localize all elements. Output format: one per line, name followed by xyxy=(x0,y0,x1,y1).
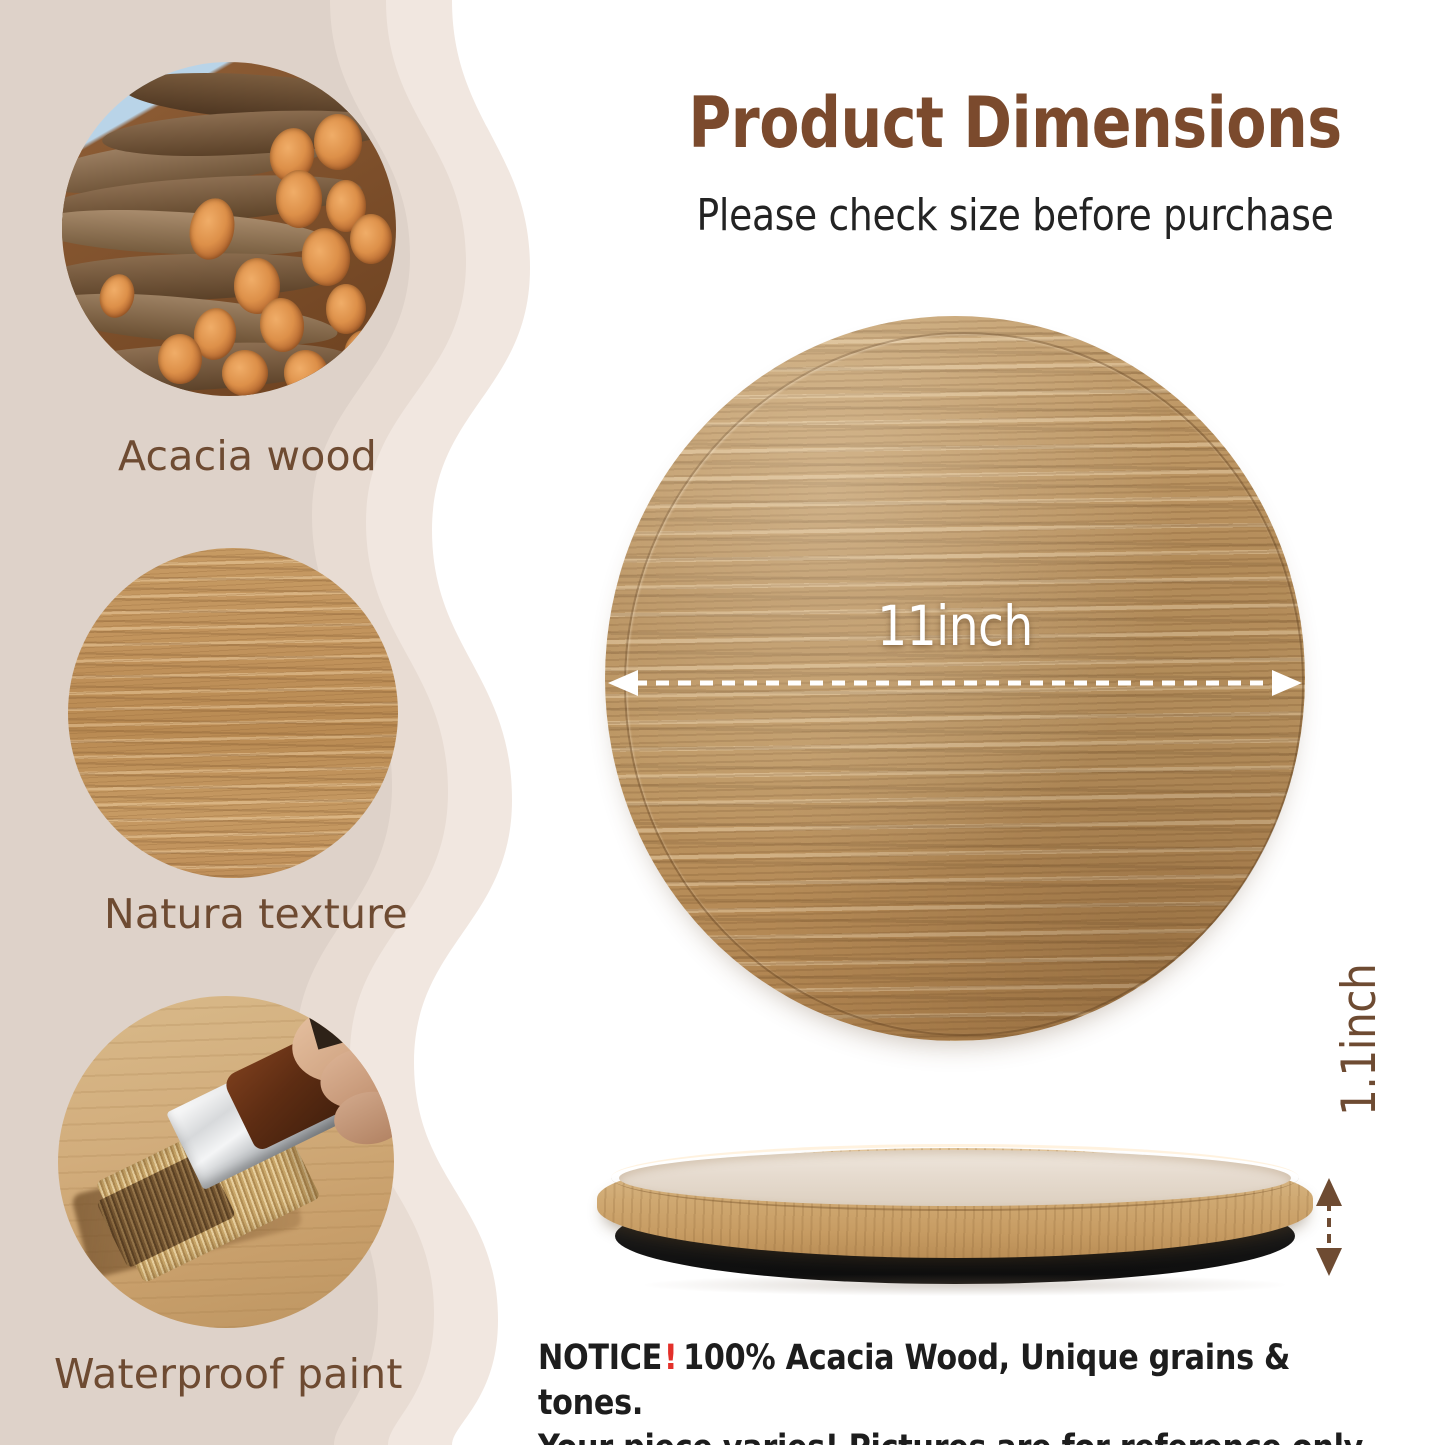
feature-label-waterproof-paint: Waterproof paint xyxy=(54,1350,403,1398)
log-pile-photo xyxy=(62,62,396,396)
notice-exclamation-icon: ! xyxy=(662,1338,683,1378)
height-label: 1.1inch xyxy=(1332,964,1387,1116)
infographic-canvas: Acacia wood Natura texture Waterproof xyxy=(0,0,1445,1445)
page-subtitle: Please check size before purchase xyxy=(640,190,1391,241)
feature-label-acacia-wood: Acacia wood xyxy=(118,432,377,480)
tray-drop-shadow xyxy=(645,1274,1285,1296)
page-title: Product Dimensions xyxy=(648,82,1383,164)
notice-prefix: NOTICE xyxy=(538,1338,662,1378)
product-side-view xyxy=(585,1136,1325,1286)
diameter-label: 11inch xyxy=(618,594,1293,658)
height-arrow-icon xyxy=(1314,1178,1344,1276)
diameter-arrow-icon xyxy=(608,668,1302,698)
feature-label-natura-texture: Natura texture xyxy=(104,890,408,938)
notice-block: NOTICE!100% Acacia Wood, Unique grains &… xyxy=(538,1336,1383,1445)
tray-inner-lip xyxy=(611,1144,1299,1211)
paintbrush-photo xyxy=(58,996,394,1328)
product-top-view: 11inch xyxy=(600,316,1310,1046)
wood-grain-swatch xyxy=(68,548,398,878)
notice-line2: Your piece varies! Pictures are for refe… xyxy=(538,1426,1383,1445)
